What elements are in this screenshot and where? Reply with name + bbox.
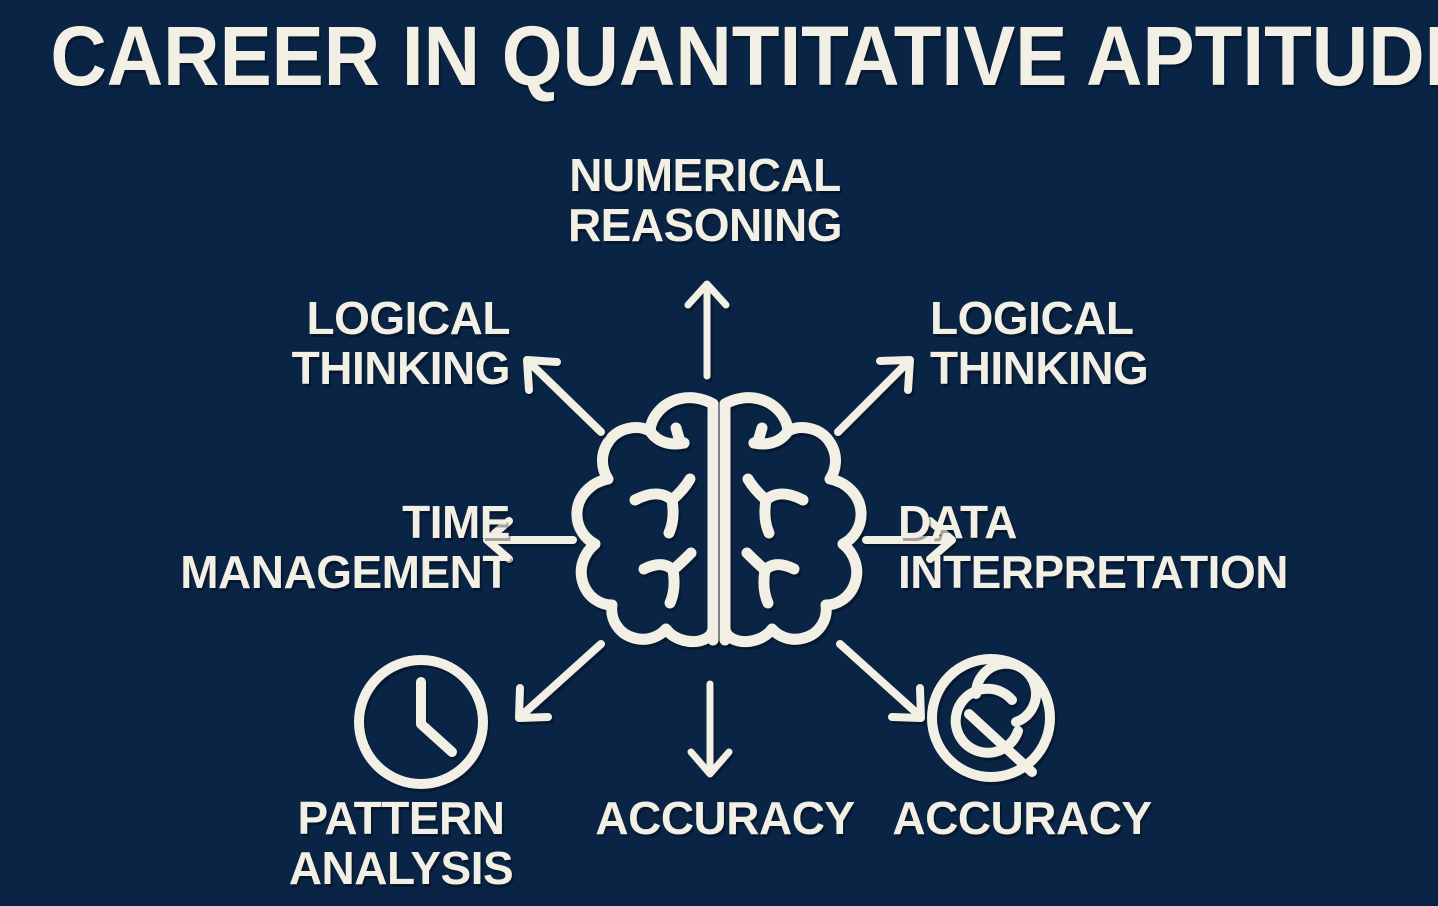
brain-icon [577,398,861,642]
node-label-line1: LOGICAL [930,293,1330,343]
node-label-line1: PATTERN [231,793,571,843]
clock-icon [359,660,483,784]
page-title: CAREER IN QUANTITATIVE APTITUDE [50,8,1387,104]
node-label-line1: ACCURACY [575,793,875,843]
arrow-down-icon [691,684,729,774]
node-label-line1: TIME [120,497,510,547]
diagram-canvas: CAREER IN QUANTITATIVE APTITUDE [0,0,1438,906]
node-label-line1: NUMERICAL [479,150,931,200]
node-label-line2: MANAGEMENT [120,547,510,597]
node-label-data-interpretation: DATA INTERPRETATION [898,497,1318,597]
node-label-accuracy-right: ACCURACY [872,793,1172,843]
diagram-artwork [0,0,1438,906]
node-label-logical-thinking-right: LOGICAL THINKING [930,293,1330,393]
node-label-line1: ACCURACY [872,793,1172,843]
target-icon [932,659,1050,777]
arrow-down-right-icon [840,644,921,718]
arrow-up-right-icon [838,360,910,432]
node-label-numerical-reasoning: NUMERICAL REASONING [479,150,931,250]
node-label-time-management: TIME MANAGEMENT [120,497,510,597]
node-label-line2: THINKING [120,343,510,393]
node-label-line1: DATA [898,497,1318,547]
node-label-line1: LOGICAL [120,293,510,343]
arrow-down-left-icon [519,644,601,718]
node-label-line2: INTERPRETATION [898,547,1318,597]
arrow-up-left-icon [527,360,601,432]
node-label-line2: ANALYSIS [231,843,571,893]
node-label-pattern-analysis: PATTERN ANALYSIS [231,793,571,893]
node-label-line2: REASONING [479,200,931,250]
arrow-up-icon [688,284,726,376]
node-label-logical-thinking-left: LOGICAL THINKING [120,293,510,393]
node-label-accuracy-center: ACCURACY [575,793,875,843]
node-label-line2: THINKING [930,343,1330,393]
